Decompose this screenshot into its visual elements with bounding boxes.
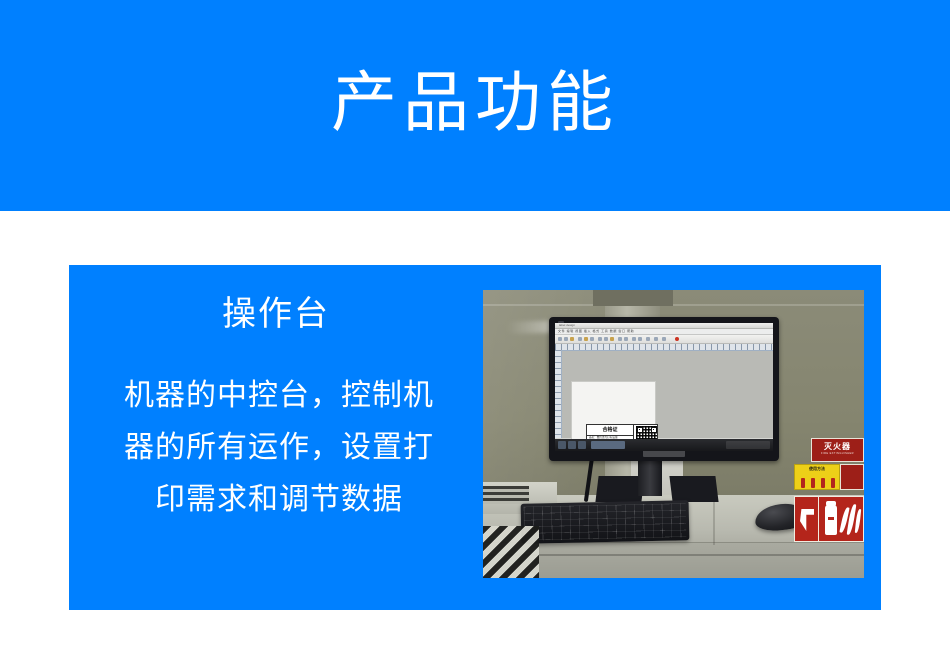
toolbar-save-icon[interactable] <box>570 337 574 341</box>
usage-figure-3-icon <box>821 478 825 488</box>
app-titlebar-text: label design <box>559 323 575 328</box>
desk-seam <box>713 495 715 545</box>
usage-instruction-diagram <box>799 473 837 488</box>
page-title: 产品功能 <box>0 62 950 142</box>
app-taskbar <box>555 439 773 451</box>
usage-figure-1-icon <box>801 478 805 488</box>
desk-front-panel <box>483 542 864 578</box>
desk-edge <box>483 554 864 556</box>
photo-wall-seam <box>483 304 864 306</box>
app-toolbar <box>555 335 773 344</box>
machine-column-top <box>593 290 673 306</box>
toolbar-open-icon[interactable] <box>564 337 568 341</box>
card-body-line-1: 机器的中控台，控制机 <box>83 370 475 422</box>
card-heading: 操作台 <box>69 292 483 336</box>
app-canvas[interactable]: 合格证 品名：数控激光打标设备 等级： 一等品 网址：http://www.xx… <box>562 351 773 438</box>
monitor-screen: label design 文件 编辑 视图 插入 格式 工具 数据 窗口 帮助 <box>555 323 773 451</box>
card-body-text: 机器的中控台，控制机 器的所有运作，设置打 印需求和调节数据 <box>83 370 475 526</box>
feature-card: 操作台 机器的中控台，控制机 器的所有运作，设置打 印需求和调节数据 <box>69 265 881 610</box>
toolbar-record-icon[interactable] <box>675 337 679 341</box>
extinguisher-body-icon <box>825 505 837 535</box>
fire-extinguisher-sign-title: 灭火器 <box>812 442 863 451</box>
toolbar-image-icon[interactable] <box>610 337 614 341</box>
toolbar-grid-icon[interactable] <box>654 337 658 341</box>
toolbar-undo-icon[interactable] <box>584 337 588 341</box>
fire-extinguisher-pictogram-sign <box>794 496 864 542</box>
monitor-stand-neck <box>638 458 662 496</box>
usage-instruction-sign: 使用方法 <box>794 464 840 490</box>
app-horizontal-ruler <box>555 344 773 351</box>
card-body-line-2: 器的所有运作，设置打 <box>83 422 475 474</box>
toolbar-text-icon[interactable] <box>598 337 602 341</box>
toolbar-group-icon[interactable] <box>638 337 642 341</box>
taskbar-start-icon[interactable] <box>558 441 566 449</box>
header-banner: 产品功能 <box>0 0 950 211</box>
monitor-foot-right <box>669 476 718 502</box>
keyboard-keys <box>524 503 687 540</box>
flame-icon-3 <box>855 509 861 533</box>
monitor-brand-logo <box>643 450 685 457</box>
keyboard[interactable] <box>521 500 690 544</box>
toolbar-new-icon[interactable] <box>558 337 562 341</box>
qr-finder-top-left <box>637 427 643 433</box>
pictogram-divider <box>818 497 819 541</box>
toolbar-redo-icon[interactable] <box>590 337 594 341</box>
product-photo: label design 文件 编辑 视图 插入 格式 工具 数据 窗口 帮助 <box>483 290 864 578</box>
qr-finder-top-right <box>651 427 657 433</box>
desk-left-rails <box>483 486 529 504</box>
usage-figure-2-icon <box>811 478 815 488</box>
toolbar-align-icon[interactable] <box>632 337 636 341</box>
taskbar-active-window-button[interactable] <box>591 441 625 449</box>
card-body-line-3: 印需求和调节数据 <box>83 474 475 526</box>
usage-figure-4-icon <box>831 478 835 488</box>
app-menubar-text: 文件 编辑 视图 插入 格式 工具 数据 窗口 帮助 <box>558 329 634 334</box>
extinguisher-label-stripe <box>828 517 834 520</box>
hazard-stripe-marking <box>483 526 539 578</box>
ruler-ticks <box>555 344 773 350</box>
taskbar-browser-icon[interactable] <box>578 441 586 449</box>
taskbar-explorer-icon[interactable] <box>568 441 576 449</box>
toolbar-zoom-icon[interactable] <box>646 337 650 341</box>
toolbar-print-icon[interactable] <box>578 337 582 341</box>
taskbar-system-tray[interactable] <box>726 441 770 449</box>
app-vertical-ruler <box>555 350 562 438</box>
fire-extinguisher-sign-subtitle: FIRE EXTINGUISHER <box>812 452 863 456</box>
fire-extinguisher-side-panel <box>840 464 864 490</box>
usage-instruction-sign-title: 使用方法 <box>795 466 839 472</box>
fire-extinguisher-sign: 灭火器 FIRE EXTINGUISHER <box>811 438 864 462</box>
toolbar-line-icon[interactable] <box>624 337 628 341</box>
toolbar-barcode-icon[interactable] <box>604 337 608 341</box>
direction-arrow-icon <box>800 509 814 531</box>
toolbar-settings-icon[interactable] <box>662 337 666 341</box>
card-text-column: 操作台 机器的中控台，控制机 器的所有运作，设置打 印需求和调节数据 <box>69 265 483 610</box>
toolbar-shape-icon[interactable] <box>618 337 622 341</box>
